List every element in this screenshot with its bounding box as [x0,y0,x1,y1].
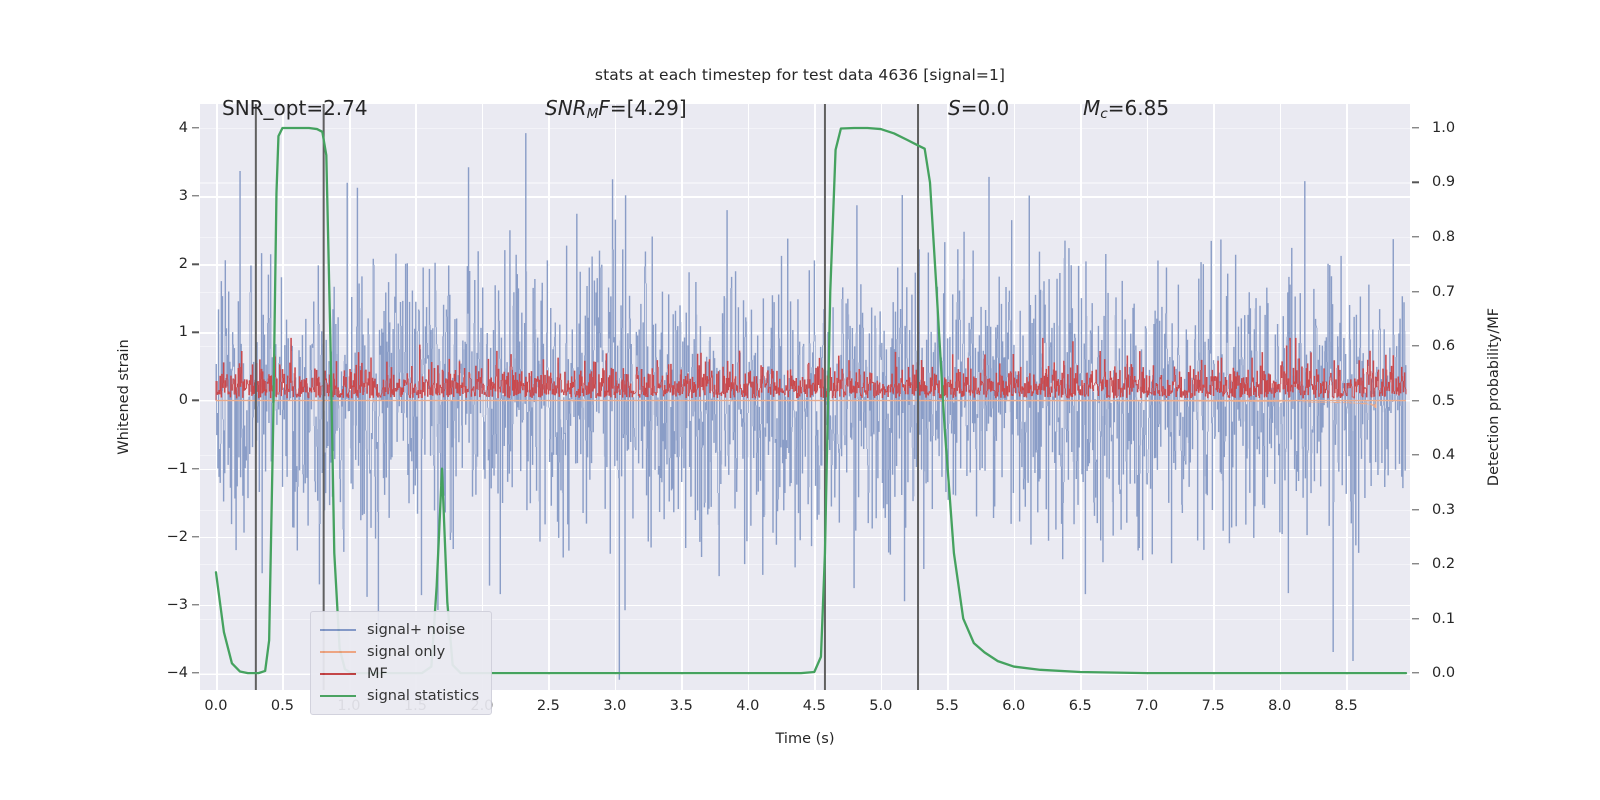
y-tick-mark-left [192,468,199,469]
x-tick-label: 3.0 [603,698,626,714]
x-tick-label: 7.0 [1135,698,1158,714]
annotation-s-value: S=0.0 [948,96,1009,120]
y-tick-mark-left [192,604,199,605]
y-tick-label-right: 0.9 [1432,174,1455,190]
y-tick-label-right: 0.2 [1432,556,1455,572]
figure: stats at each timestep for test data 463… [0,0,1600,800]
x-tick-label: 6.0 [1002,698,1025,714]
legend-item-label: signal statistics [367,688,479,704]
y-tick-label-left: 3 [179,188,188,204]
y-tick-mark-right [1412,291,1419,292]
legend-item-1[interactable]: signal only [320,641,479,663]
y-tick-label-right: 0.1 [1432,611,1455,627]
x-tick-label: 3.5 [670,698,693,714]
y-tick-mark-left [192,536,199,537]
y-tick-mark-right [1412,182,1419,183]
y-tick-mark-left [192,127,199,128]
legend-item-2[interactable]: MF [320,663,479,685]
x-tick-label: 7.5 [1202,698,1225,714]
y-tick-label-right: 0.0 [1432,665,1455,681]
y-tick-mark-right [1412,563,1419,564]
legend-swatch-icon [320,673,356,676]
annotation-snr-mf: SNRMF=[4.29] [545,96,687,122]
x-axis-label: Time (s) [776,731,835,747]
legend[interactable]: signal+ noisesignal onlyMFsignal statist… [310,611,492,715]
annotation-snr-opt: SNR_opt=2.74 [222,96,368,120]
y-tick-label-left: 4 [179,120,188,136]
y-tick-label-right: 0.4 [1432,447,1455,463]
y-tick-label-left: −1 [167,461,188,477]
x-tick-label: 0.0 [204,698,227,714]
y-axis-label-right: Detection probability/MF [1486,308,1502,486]
y-tick-label-left: −4 [167,665,188,681]
y-tick-mark-right [1412,618,1419,619]
y-tick-mark-left [192,672,199,673]
y-tick-label-right: 0.8 [1432,229,1455,245]
y-axis-label-left: Whitened strain [116,339,132,454]
y-tick-label-left: 2 [179,256,188,272]
y-tick-label-right: 0.3 [1432,502,1455,518]
y-tick-mark-left [192,263,199,264]
x-tick-label: 0.5 [271,698,294,714]
y-tick-mark-right [1412,127,1419,128]
y-tick-mark-right [1412,345,1419,346]
x-tick-label: 4.5 [803,698,826,714]
page-title: stats at each timestep for test data 463… [0,66,1600,84]
y-tick-mark-left [192,332,199,333]
y-tick-mark-right [1412,400,1419,401]
legend-swatch-icon [320,629,356,632]
legend-item-label: signal+ noise [367,622,465,638]
y-tick-label-left: −2 [167,529,188,545]
x-tick-label: 6.5 [1069,698,1092,714]
y-tick-label-left: 0 [179,392,188,408]
x-tick-label: 5.0 [869,698,892,714]
x-tick-label: 2.5 [537,698,560,714]
y-tick-mark-right [1412,236,1419,237]
plot-traces-canvas [200,104,1410,690]
y-tick-mark-right [1412,672,1419,673]
legend-item-label: MF [367,666,388,682]
y-tick-label-right: 0.6 [1432,338,1455,354]
annotation-chirp-mass: Mc=6.85 [1083,96,1169,122]
y-tick-mark-right [1412,454,1419,455]
y-tick-label-right: 1.0 [1432,120,1455,136]
plot-axes[interactable] [200,104,1410,690]
y-tick-label-right: 0.5 [1432,393,1455,409]
x-tick-label: 4.0 [736,698,759,714]
x-tick-label: 5.5 [936,698,959,714]
y-tick-mark-right [1412,509,1419,510]
legend-item-label: signal only [367,644,445,660]
y-tick-mark-left [192,195,199,196]
y-tick-mark-left [192,400,199,401]
x-tick-label: 8.5 [1335,698,1358,714]
x-tick-label: 8.0 [1268,698,1291,714]
legend-item-3[interactable]: signal statistics [320,685,479,707]
y-tick-label-right: 0.7 [1432,284,1455,300]
legend-swatch-icon [320,695,356,698]
legend-swatch-icon [320,651,356,654]
legend-item-0[interactable]: signal+ noise [320,619,479,641]
y-tick-label-left: 1 [179,324,188,340]
y-tick-label-left: −3 [167,597,188,613]
